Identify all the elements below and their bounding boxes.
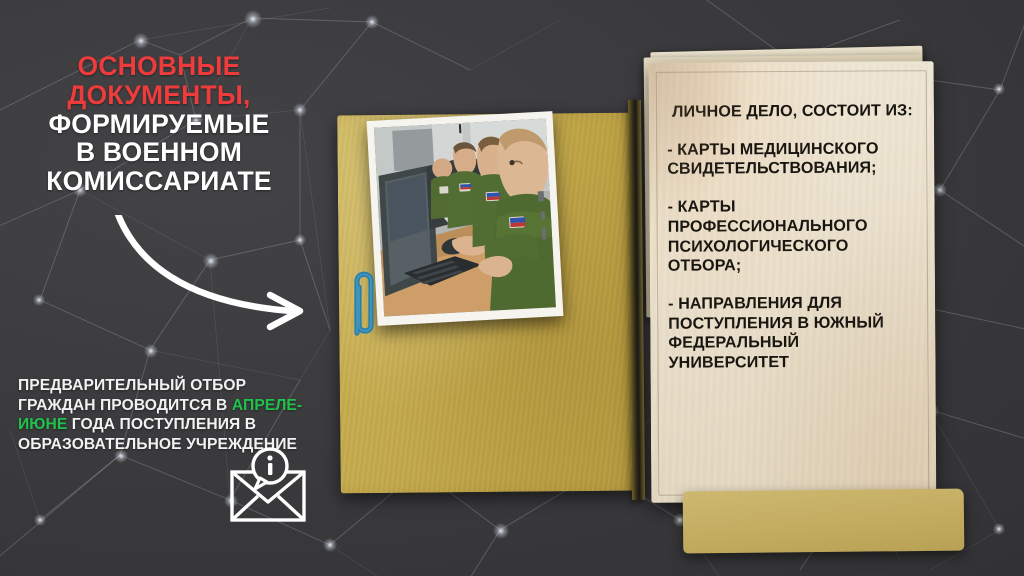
subtext-part-1: ПРЕДВАРИТЕЛЬНЫЙ ОТБОР ГРАЖДАН ПРОВОДИТСЯ… bbox=[18, 377, 246, 414]
title-line-3: ФОРМИРУЕМЫЕ bbox=[0, 110, 318, 139]
document-heading: ЛИЧНОЕ ДЕЛО, СОСТОИТ ИЗ: bbox=[667, 101, 918, 122]
page-title: ОСНОВНЫЕ ДОКУМЕНТЫ, ФОРМИРУЕМЫЕ В ВОЕННО… bbox=[0, 52, 318, 196]
title-line-5: КОМИССАРИАТЕ bbox=[0, 167, 318, 196]
document-item: - КАРТЫ МЕДИЦИНСКОГО СВИДЕТЕЛЬСТВОВАНИЯ; bbox=[667, 139, 918, 180]
soldiers-at-computers-photo bbox=[367, 111, 564, 326]
document-item: - НАПРАВЛЕНИЯ ДЛЯ ПОСТУПЛЕНИЯ В ЮЖНЫЙ ФЕ… bbox=[668, 293, 919, 373]
slide-canvas: ОСНОВНЫЕ ДОКУМЕНТЫ, ФОРМИРУЕМЫЕ В ВОЕННО… bbox=[0, 0, 1024, 576]
title-line-1: ОСНОВНЫЕ bbox=[0, 52, 318, 81]
photo-pin-mark bbox=[459, 124, 461, 133]
title-line-4: В ВОЕННОМ bbox=[0, 138, 318, 167]
envelope-info-icon bbox=[222, 442, 318, 530]
folder-bottom-flap bbox=[683, 489, 965, 554]
document-item: - КАРТЫ ПРОФЕССИОНАЛЬНОГО ПСИХОЛОГИЧЕСКО… bbox=[667, 196, 918, 276]
title-line-2: ДОКУМЕНТЫ, bbox=[0, 81, 318, 110]
document-page: ЛИЧНОЕ ДЕЛО, СОСТОИТ ИЗ: - КАРТЫ МЕДИЦИН… bbox=[649, 61, 937, 503]
photo-image bbox=[374, 118, 556, 316]
paperclip-icon bbox=[341, 263, 385, 345]
document-text: ЛИЧНОЕ ДЕЛО, СОСТОИТ ИЗ: - КАРТЫ МЕДИЦИН… bbox=[667, 101, 920, 373]
curved-arrow-icon bbox=[110, 215, 340, 345]
folder-spine bbox=[628, 100, 645, 500]
